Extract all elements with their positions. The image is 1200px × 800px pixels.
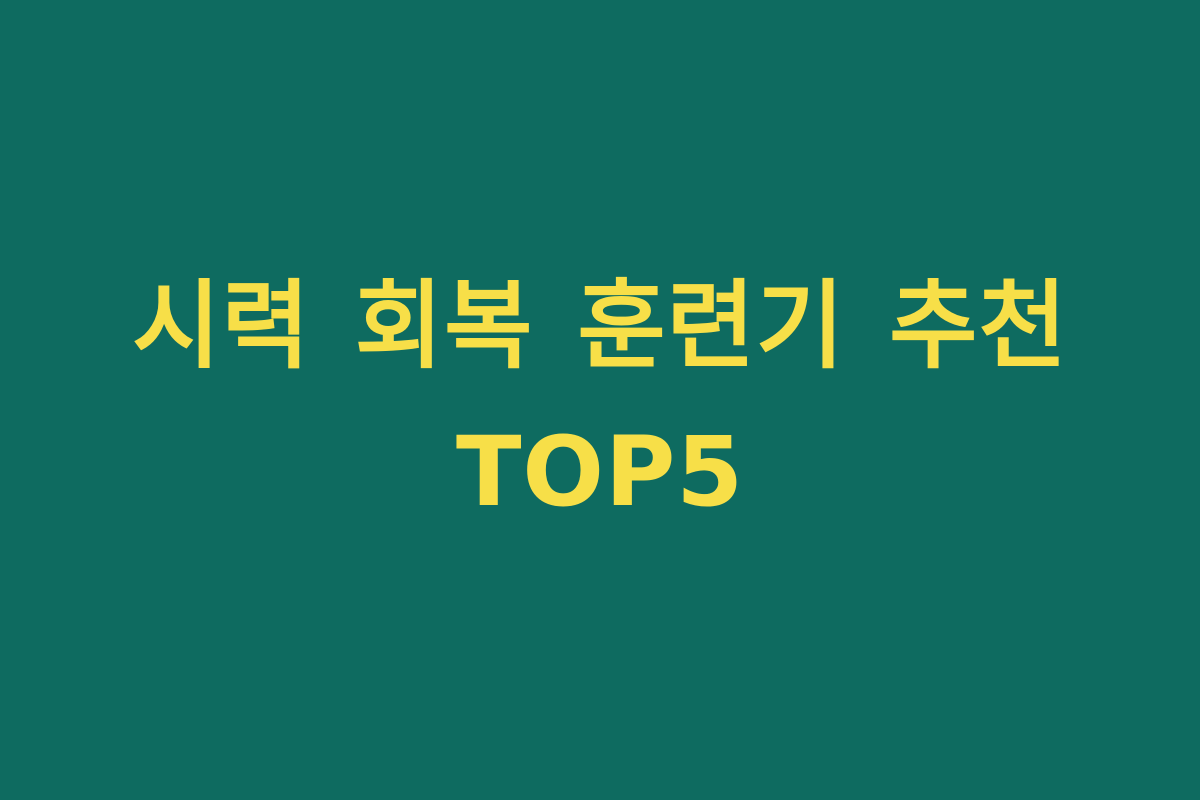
title-card: 시력 회복 훈련기 추천 TOP5 (0, 0, 1200, 800)
headline-text: 시력 회복 훈련기 추천 TOP5 (95, 254, 1105, 546)
